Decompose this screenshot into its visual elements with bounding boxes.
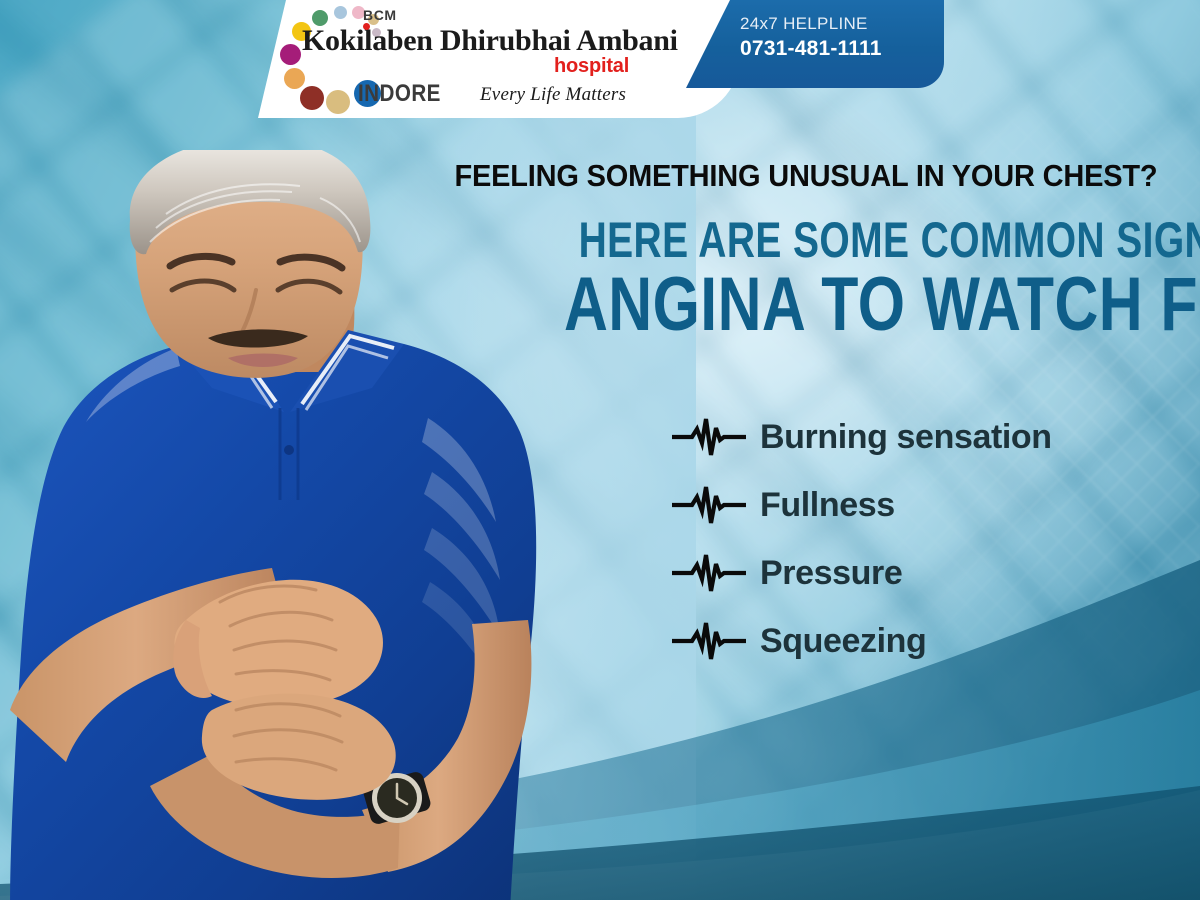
headline-line-2: ANGINA TO WATCH FOR — [564, 267, 1148, 343]
logo-tagline: Every Life Matters — [480, 84, 626, 106]
kicker-question: FEELING SOMETHING UNUSUAL IN YOUR CHEST? — [455, 160, 1149, 193]
logo-red-accent-dot — [363, 23, 370, 30]
hospital-logo[interactable]: BCM Kokilaben Dhirubhai Ambani hospital … — [258, 0, 740, 118]
ecg-heartbeat-icon — [672, 620, 746, 662]
logo-city-name: INDORE — [358, 80, 441, 108]
ecg-heartbeat-icon — [672, 552, 746, 594]
symptom-item: Fullness — [672, 482, 1052, 528]
header-band: 24x7 HELPLINE 0731-481-1111 BCM Kokilabe… — [0, 0, 1200, 122]
logo-brand-name: Kokilaben Dhirubhai Ambani — [302, 24, 678, 58]
logo-dot-2 — [334, 6, 347, 19]
ecg-heartbeat-icon — [672, 484, 746, 526]
logo-dot-10 — [326, 90, 350, 114]
symptom-list: Burning sensation Fullness Pressure Sque… — [672, 414, 1052, 664]
symptom-label: Burning sensation — [760, 420, 1052, 454]
symptom-label: Squeezing — [760, 624, 926, 658]
helpline-number[interactable]: 0731-481-1111 — [740, 35, 944, 62]
headline-block: FEELING SOMETHING UNUSUAL IN YOUR CHEST?… — [418, 160, 1148, 343]
symptom-item: Pressure — [672, 550, 1052, 596]
symptom-item: Burning sensation — [672, 414, 1052, 460]
symptom-label: Pressure — [760, 556, 902, 590]
symptom-label: Fullness — [760, 488, 895, 522]
logo-dot-9 — [300, 86, 324, 110]
headline-line-1: HERE ARE SOME COMMON SIGNS OF — [579, 215, 1148, 265]
logo-bcm-text: BCM — [363, 7, 397, 23]
logo-hospital-word: hospital — [554, 55, 629, 78]
logo-dot-7 — [280, 44, 301, 65]
ecg-heartbeat-icon — [672, 416, 746, 458]
helpline-label: 24x7 HELPLINE — [740, 13, 944, 34]
symptom-item: Squeezing — [672, 618, 1052, 664]
logo-dot-8 — [284, 68, 305, 89]
poster-canvas: 24x7 HELPLINE 0731-481-1111 BCM Kokilabe… — [0, 0, 1200, 900]
